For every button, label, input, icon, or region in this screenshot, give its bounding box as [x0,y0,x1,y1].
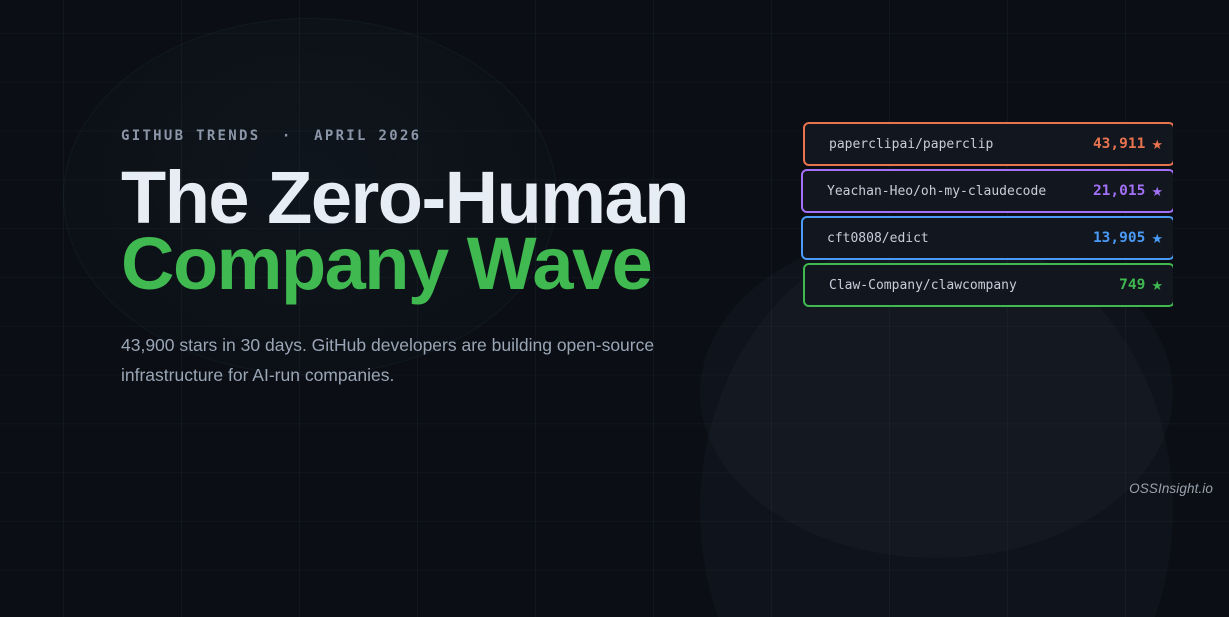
repo-name: paperclipai/paperclip [829,137,1093,152]
repo-card[interactable]: cft0808/edict 13,905 ★ [801,216,1173,260]
repo-card[interactable]: paperclipai/paperclip 43,911 ★ [803,122,1173,166]
page-title: The Zero-Human Company Wave [121,168,821,294]
repo-stat: 43,911 ★ [1093,136,1173,152]
star-icon: ★ [1151,185,1163,198]
repo-name: Claw-Company/clawcompany [829,278,1119,293]
watermark-label: OSSInsight.io [1129,481,1213,496]
headline-line-2: Company Wave [121,234,821,294]
star-icon: ★ [1151,138,1163,151]
subtitle-text: 43,900 stars in 30 days. GitHub develope… [121,330,691,390]
star-count: 43,911 [1093,136,1145,152]
repo-card[interactable]: Yeachan-Heo/oh-my-claudecode 21,015 ★ [801,169,1173,213]
poster-canvas: GITHUB TRENDS · APRIL 2026 The Zero-Huma… [0,0,1229,617]
repo-stat: 749 ★ [1119,277,1173,293]
repo-stat: 21,015 ★ [1093,183,1173,199]
star-icon: ★ [1151,232,1163,245]
repo-card-list: paperclipai/paperclip 43,911 ★ Yeachan-H… [801,121,1173,311]
repo-card[interactable]: Claw-Company/clawcompany 749 ★ [803,263,1173,307]
repo-stat: 13,905 ★ [1093,230,1173,246]
star-count: 749 [1119,277,1145,293]
repo-name: Yeachan-Heo/oh-my-claudecode [827,184,1093,199]
headline-line-1: The Zero-Human [121,168,821,228]
repo-name: cft0808/edict [827,231,1093,246]
headline-block: GITHUB TRENDS · APRIL 2026 The Zero-Huma… [121,128,821,390]
eyebrow-label: GITHUB TRENDS · APRIL 2026 [121,128,821,144]
star-icon: ★ [1151,279,1163,292]
star-count: 21,015 [1093,183,1145,199]
star-count: 13,905 [1093,230,1145,246]
